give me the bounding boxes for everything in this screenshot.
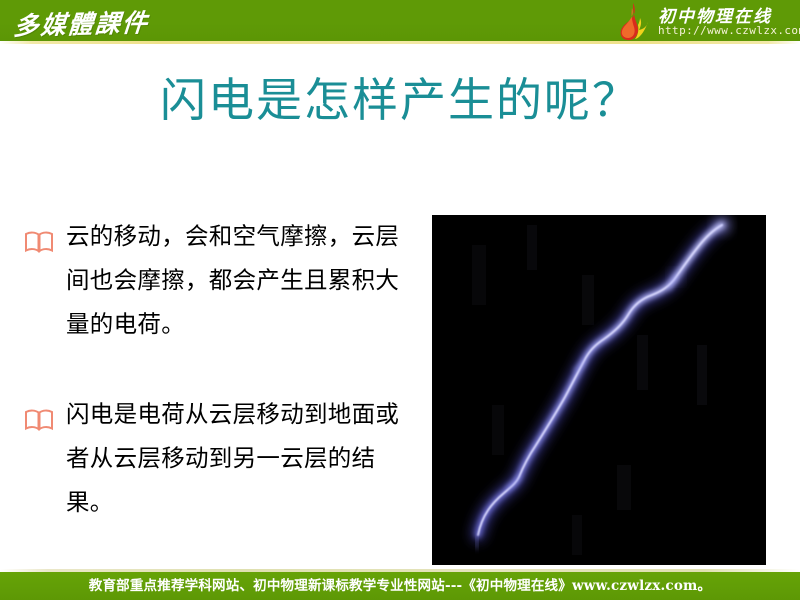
open-book-icon: [24, 402, 54, 426]
footer-text: 教育部重点推荐学科网站、初中物理新课标教学专业性网站---《初中物理在线》www…: [0, 572, 800, 600]
footer-banner: 教育部重点推荐学科网站、初中物理新课标教学专业性网站---《初中物理在线》www…: [0, 572, 800, 600]
list-item: 闪电是电荷从云层移动到地面或者从云层移动到另一云层的结果。: [18, 392, 422, 524]
brand-right-group: 初中物理在线 http://www.czwlzx.com/: [612, 0, 792, 41]
page-title: 闪电是怎样产生的呢？: [0, 64, 800, 130]
brand-left-title: 多媒體課件: [12, 3, 150, 41]
list-item-text: 云的移动，会和空气摩擦，云层间也会摩擦，都会产生且累积大量的电荷。: [66, 214, 422, 346]
lightning-photo: [432, 215, 766, 565]
list-item-text: 闪电是电荷从云层移动到地面或者从云层移动到另一云层的结果。: [66, 392, 422, 524]
open-book-icon: [24, 224, 54, 248]
flame-logo-icon: [612, 2, 656, 41]
site-url-link[interactable]: http://www.czwlzx.com/: [658, 24, 800, 37]
header-banner: 多媒體課件 初中物理在线 http://www.czwlzx.com/: [0, 0, 800, 41]
list-item: 云的移动，会和空气摩擦，云层间也会摩擦，都会产生且累积大量的电荷。: [18, 214, 422, 346]
header-accent-line: [0, 41, 800, 44]
bullet-list: 云的移动，会和空气摩擦，云层间也会摩擦，都会产生且累积大量的电荷。 闪电是电荷从…: [18, 214, 422, 570]
